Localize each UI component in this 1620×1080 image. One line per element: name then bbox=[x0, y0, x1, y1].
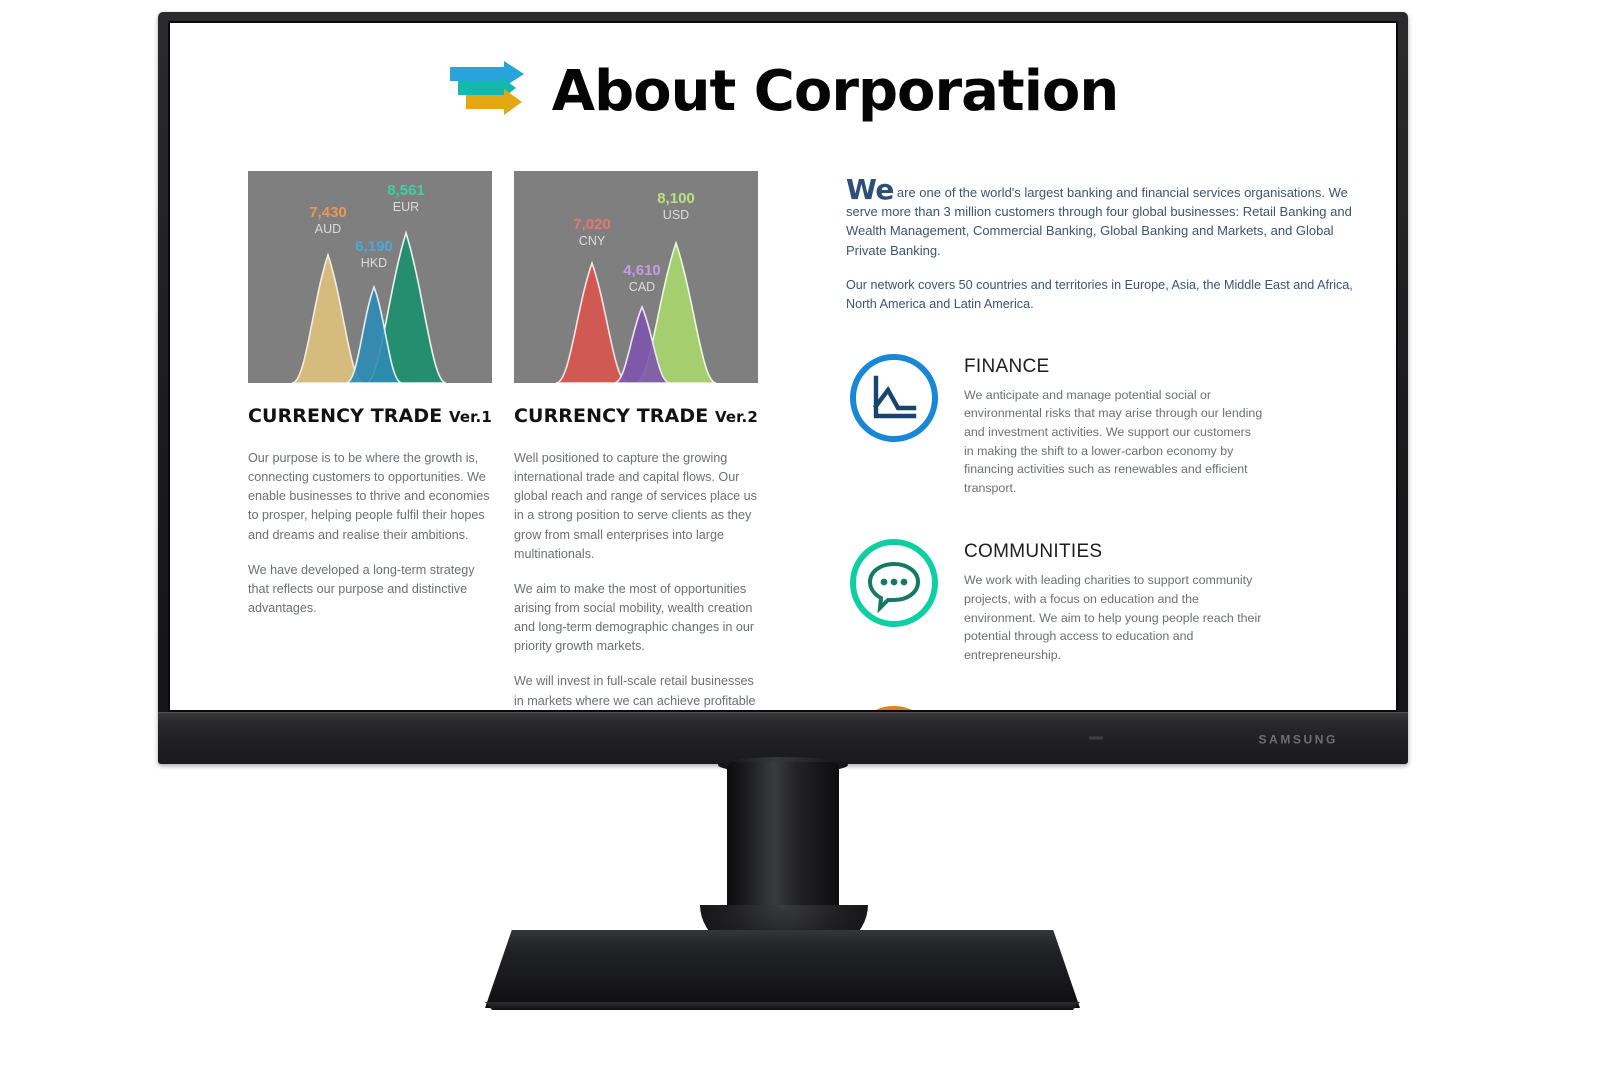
speech-bubble-icon bbox=[846, 535, 942, 631]
card-currency-trade-v2: 7,020 CNY 4,610 CAD 8,100 USD CURRENCY T… bbox=[514, 171, 758, 710]
card-title-main-v1: CURRENCY TRADE bbox=[248, 405, 442, 427]
presentation-slide: About Corporation bbox=[170, 23, 1396, 710]
monitor: About Corporation bbox=[158, 12, 1408, 764]
intro-lead-rest: are one of the world's largest banking a… bbox=[846, 185, 1352, 258]
pillar-operations: OPERATIONS We have committed to cut our … bbox=[846, 702, 1356, 710]
card-paragraph: We aim to make the most of opportunities… bbox=[514, 580, 758, 657]
intro-lead-word: We bbox=[846, 173, 894, 206]
chart2-label-name-cad: CAD bbox=[629, 280, 655, 294]
card-title-main-v2: CURRENCY TRADE bbox=[514, 405, 708, 427]
intro-second: Our network covers 50 countries and terr… bbox=[846, 276, 1356, 314]
chart1-label-value-hkd: 6,190 bbox=[355, 238, 393, 255]
chart2-label-value-cad: 4,610 bbox=[623, 262, 661, 279]
pillar-communities: COMMUNITIES We work with leading chariti… bbox=[846, 535, 1356, 664]
card-text-v2: Well positioned to capture the growing i… bbox=[514, 449, 758, 710]
chart1-label-value-eur: 8,561 bbox=[387, 182, 425, 199]
monitor-brand-label: SAMSUNG bbox=[1258, 732, 1338, 746]
monitor-screen: About Corporation bbox=[170, 23, 1396, 710]
slide-header: About Corporation bbox=[170, 61, 1396, 123]
stand-base bbox=[485, 930, 1080, 1008]
card-title-v1: CURRENCY TRADE Ver.1 bbox=[248, 405, 492, 427]
pillar-title: COMMUNITIES bbox=[964, 541, 1264, 563]
intro-lead: Weare one of the world's largest banking… bbox=[846, 177, 1356, 260]
chart-cards: 7,430 AUD 6,190 HKD 8,561 EUR CURRENCY T… bbox=[248, 171, 758, 710]
pillar-body-communities: COMMUNITIES We work with leading chariti… bbox=[964, 535, 1264, 664]
pillar-body-operations: OPERATIONS We have committed to cut our … bbox=[964, 702, 1264, 710]
card-text-v1: Our purpose is to be where the growth is… bbox=[248, 449, 492, 618]
intro-block: Weare one of the world's largest banking… bbox=[846, 177, 1356, 314]
pillar-list: FINANCE We anticipate and manage potenti… bbox=[846, 350, 1356, 710]
chart1-label-value-aud: 7,430 bbox=[309, 204, 347, 221]
pillar-text: We work with leading charities to suppor… bbox=[964, 571, 1264, 664]
pillar-title: OPERATIONS bbox=[964, 708, 1264, 710]
line-chart-icon bbox=[846, 350, 942, 446]
card-title-ver-v1: Ver.1 bbox=[449, 408, 492, 426]
card-title-v2: CURRENCY TRADE Ver.2 bbox=[514, 405, 758, 427]
card-paragraph: We will invest in full-scale retail busi… bbox=[514, 672, 758, 710]
pillar-text: We anticipate and manage potential socia… bbox=[964, 386, 1264, 498]
chart2-label-name-cny: CNY bbox=[579, 234, 606, 248]
pillar-body-finance: FINANCE We anticipate and manage potenti… bbox=[964, 350, 1264, 498]
chart1-label-name-hkd: HKD bbox=[361, 256, 387, 270]
stand-base-edge bbox=[485, 1002, 1080, 1010]
pillar-finance: FINANCE We anticipate and manage potenti… bbox=[846, 350, 1356, 498]
card-title-ver-v2: Ver.2 bbox=[715, 408, 758, 426]
power-led-indicator bbox=[1089, 737, 1103, 740]
chart2-label-value-cny: 7,020 bbox=[573, 216, 611, 233]
triple-arrow-logo-icon bbox=[448, 61, 534, 123]
microphone-icon bbox=[846, 702, 942, 710]
chart2-label-value-usd: 8,100 bbox=[657, 190, 695, 207]
card-currency-trade-v1: 7,430 AUD 6,190 HKD 8,561 EUR CURRENCY T… bbox=[248, 171, 492, 710]
pillar-title: FINANCE bbox=[964, 356, 1264, 378]
chart1-label-name-aud: AUD bbox=[315, 222, 341, 236]
screenshot-root: About Corporation bbox=[0, 0, 1620, 1080]
about-column: Weare one of the world's largest banking… bbox=[758, 171, 1356, 710]
area-aud bbox=[292, 255, 364, 383]
page-title: About Corporation bbox=[552, 64, 1119, 120]
card-paragraph: Our purpose is to be where the growth is… bbox=[248, 449, 492, 545]
area-cny bbox=[556, 263, 628, 383]
card-paragraph: We have developed a long-term strategy t… bbox=[248, 561, 492, 618]
chart-currency-trade-v1: 7,430 AUD 6,190 HKD 8,561 EUR bbox=[248, 171, 492, 383]
chart1-label-name-eur: EUR bbox=[393, 200, 419, 214]
card-paragraph: Well positioned to capture the growing i… bbox=[514, 449, 758, 564]
chart2-label-name-usd: USD bbox=[663, 208, 689, 222]
slide-body: 7,430 AUD 6,190 HKD 8,561 EUR CURRENCY T… bbox=[248, 171, 1356, 710]
chart-currency-trade-v2: 7,020 CNY 4,610 CAD 8,100 USD bbox=[514, 171, 758, 383]
